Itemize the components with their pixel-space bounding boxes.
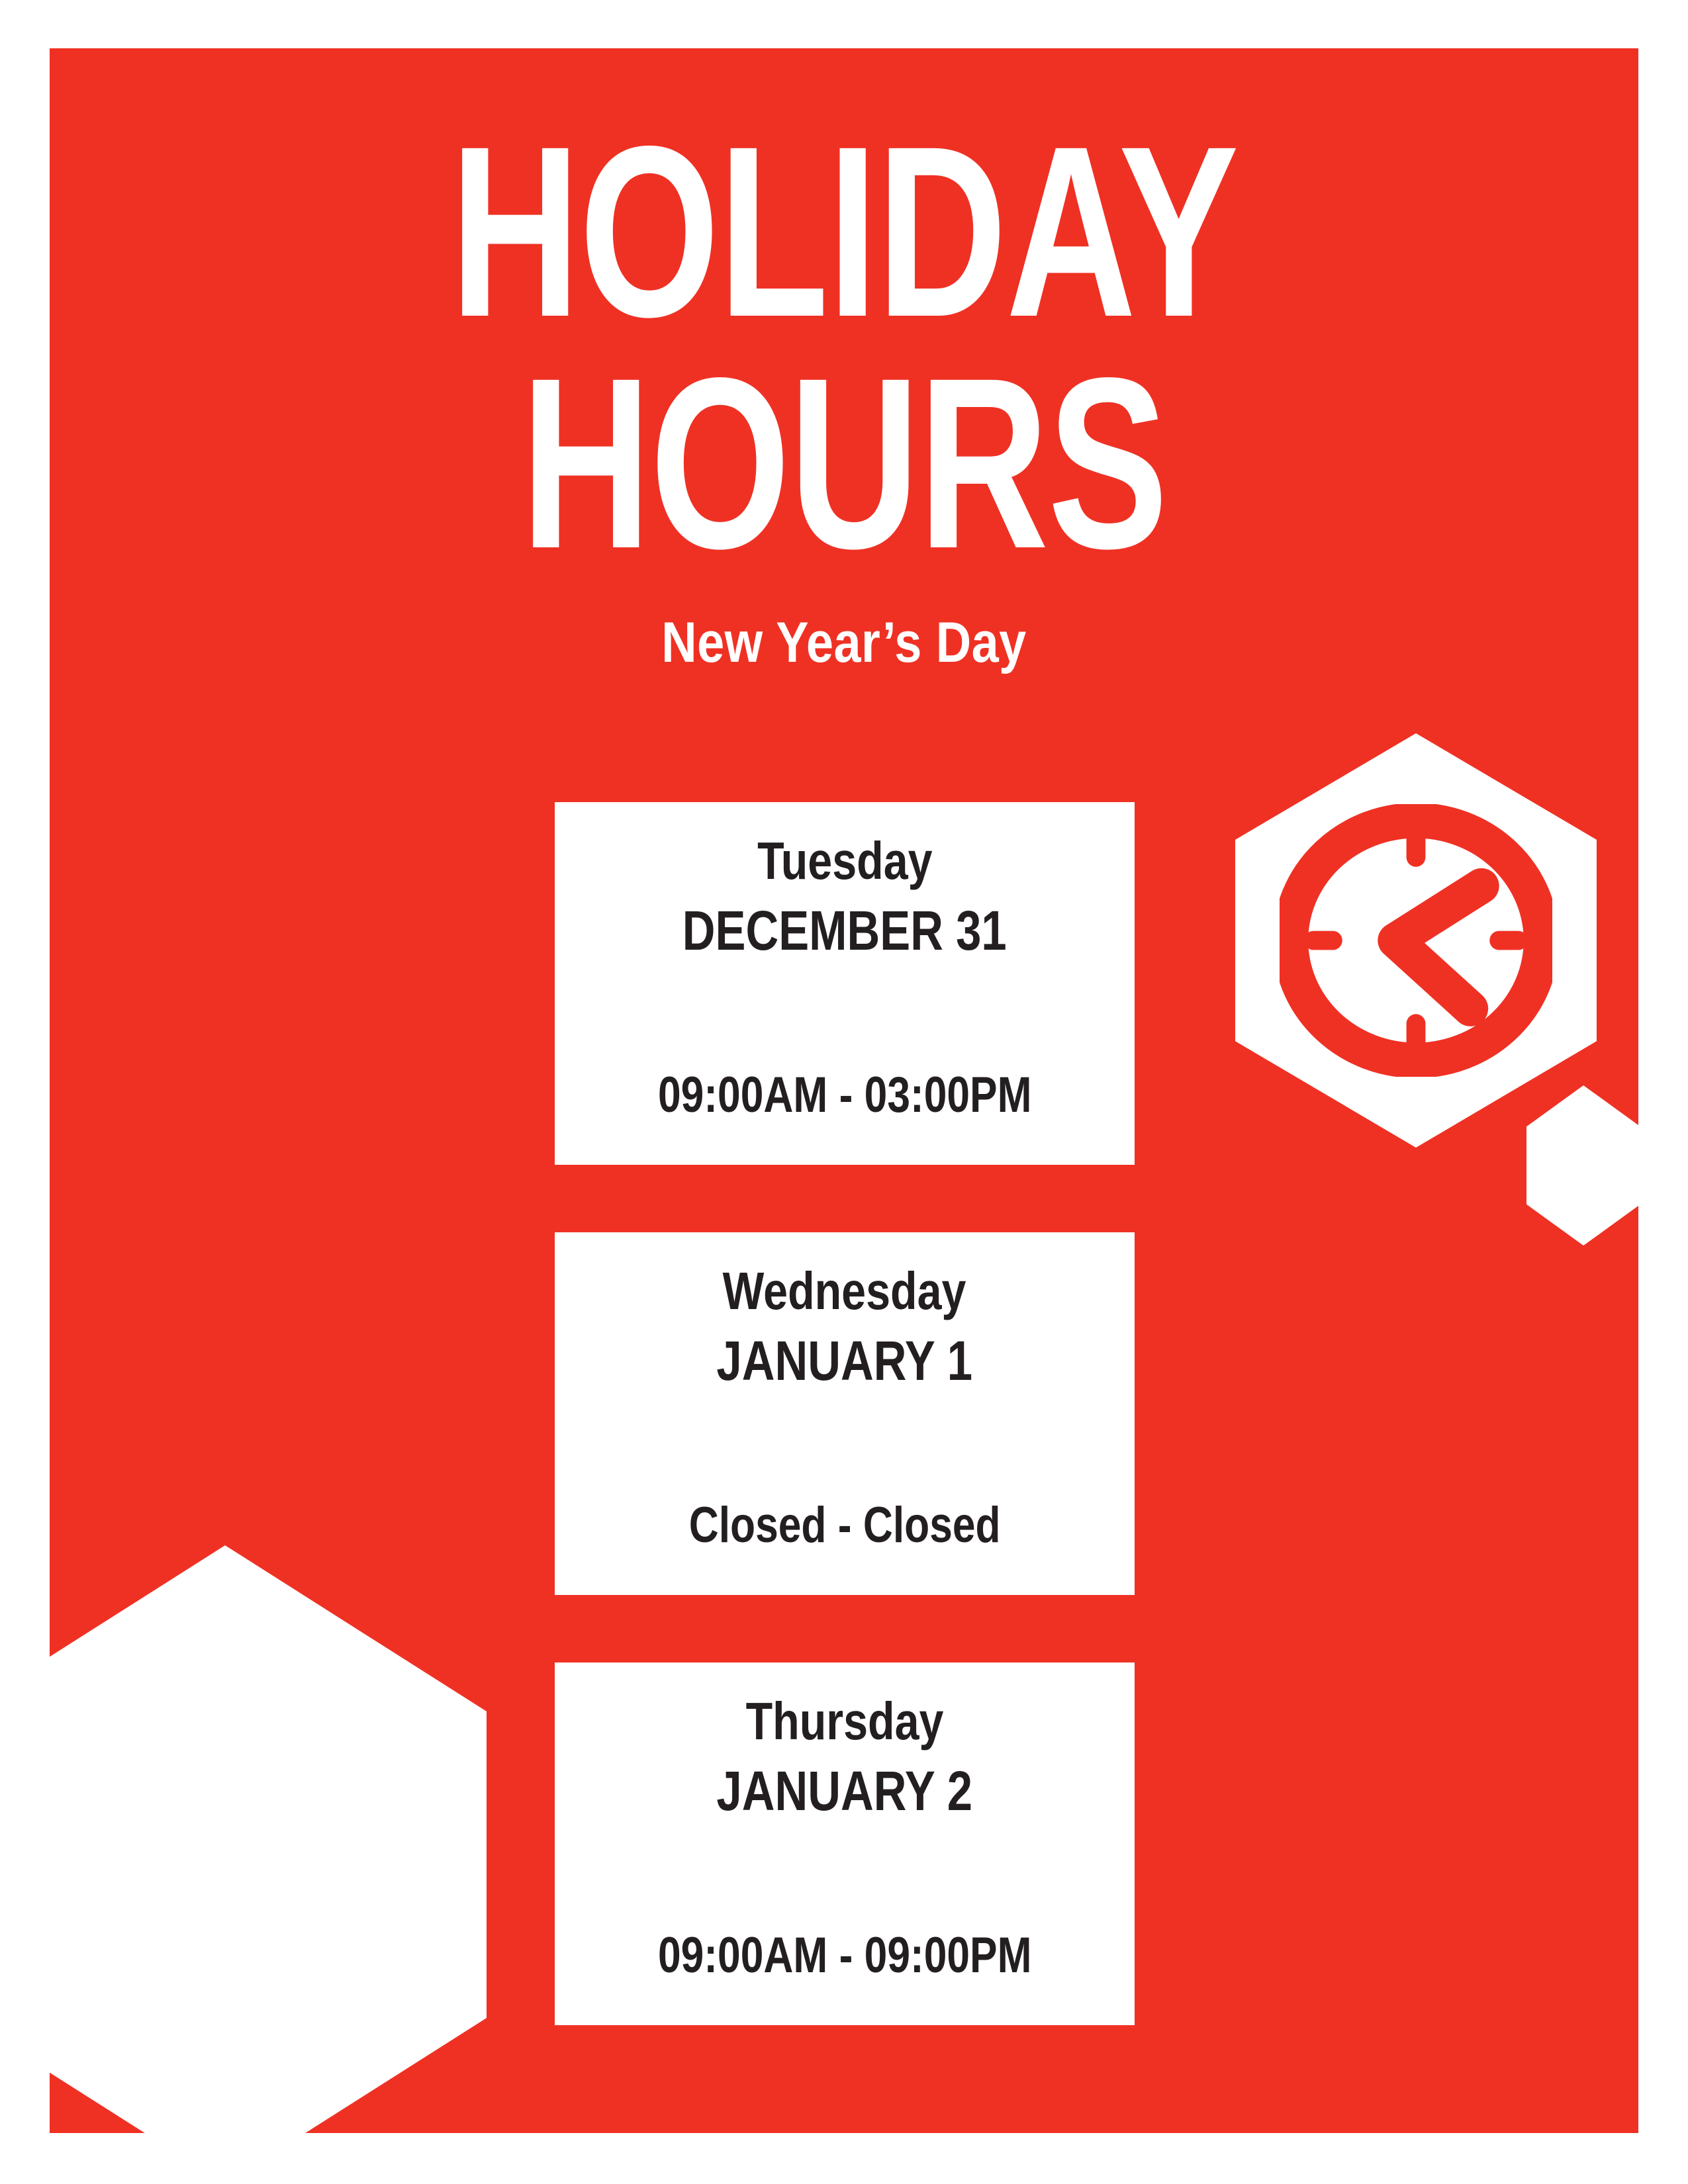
hours-card: Thursday JANUARY 2 09:00AM - 09:00PM (555, 1662, 1135, 2025)
card-day-label: Wednesday (723, 1260, 966, 1322)
page-subtitle: New Year’s Day (161, 614, 1527, 671)
hours-card: Wednesday JANUARY 1 Closed - Closed (555, 1232, 1135, 1595)
page-title-line-1: HOLIDAY (256, 116, 1432, 347)
poster-headline: HOLIDAY HOURS New Year’s Day (50, 116, 1638, 671)
schedule-list: Tuesday DECEMBER 31 09:00AM - 03:00PM We… (555, 802, 1135, 2025)
hours-card: Tuesday DECEMBER 31 09:00AM - 03:00PM (555, 802, 1135, 1165)
card-day-label: Thursday (746, 1690, 944, 1752)
card-day-label: Tuesday (757, 830, 932, 892)
clock-icon (1280, 804, 1552, 1077)
card-hours-label: 09:00AM - 09:00PM (658, 1925, 1032, 1985)
holiday-hours-poster: HOLIDAY HOURS New Year’s Day Tuesday DEC… (0, 0, 1688, 2184)
card-hours-label: Closed - Closed (689, 1495, 1001, 1555)
card-date-label: JANUARY 2 (717, 1758, 973, 1825)
card-date-label: JANUARY 1 (717, 1328, 973, 1394)
page-title-line-2: HOURS (256, 347, 1432, 579)
card-date-label: DECEMBER 31 (682, 897, 1007, 964)
card-hours-label: 09:00AM - 03:00PM (658, 1065, 1032, 1125)
